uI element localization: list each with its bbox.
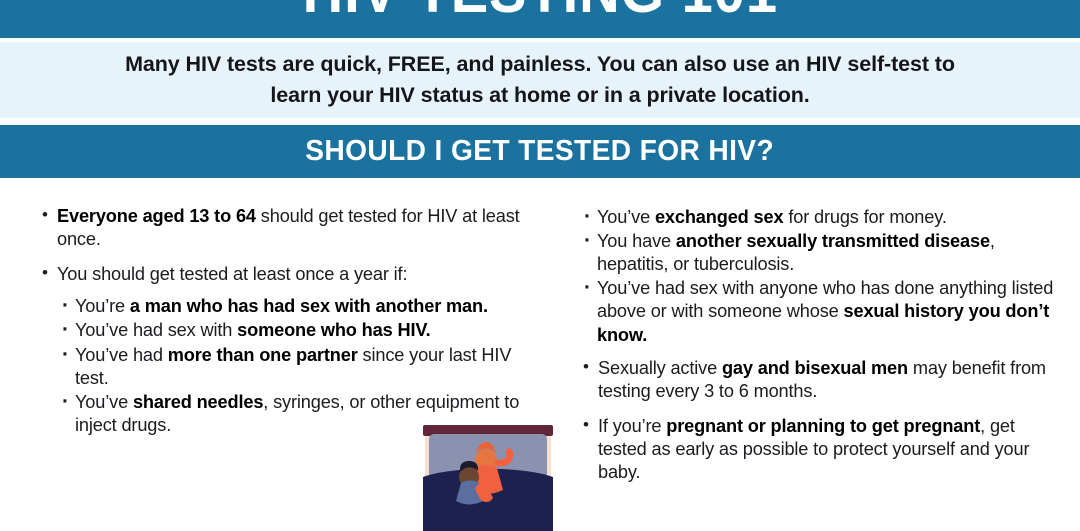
list-item: You should get tested at least once a ye… xyxy=(42,263,537,286)
section-heading-banner: SHOULD I GET TESTED FOR HIV? xyxy=(0,125,1080,178)
body-text: You’ve xyxy=(75,392,133,412)
list-item: Sexually active gay and bisexual men may… xyxy=(583,357,1063,403)
right-column-bullets: Sexually active gay and bisexual men may… xyxy=(583,357,1063,485)
couple-in-bed-illustration xyxy=(423,422,553,531)
left-column-list: Everyone aged 13 to 64 should get tested… xyxy=(42,205,537,438)
emphasis-text: someone who has HIV. xyxy=(237,320,430,340)
list-item: Everyone aged 13 to 64 should get tested… xyxy=(42,205,537,251)
emphasis-text: gay and bisexual men xyxy=(722,358,908,378)
body-text: You’re xyxy=(75,296,130,316)
sub-list: You’re a man who has had sex with anothe… xyxy=(42,295,537,437)
sub-list-item: You have another sexually transmitted di… xyxy=(583,230,1063,276)
body-text: If you’re xyxy=(598,416,666,436)
emphasis-text: pregnant or planning to get pregnant xyxy=(666,416,980,436)
sub-list-item: You’ve had sex with someone who has HIV. xyxy=(61,319,537,342)
body-text: You’ve had xyxy=(75,345,168,365)
right-column: You’ve exchanged sex for drugs for money… xyxy=(583,205,1063,496)
emphasis-text: a man who has had sex with another man. xyxy=(130,296,488,316)
subtitle-band: Many HIV tests are quick, FREE, and pain… xyxy=(0,42,1080,118)
list-item: If you’re pregnant or planning to get pr… xyxy=(583,415,1063,484)
body-text: Sexually active xyxy=(598,358,722,378)
sub-list-item: You’ve had sex with anyone who has done … xyxy=(583,277,1063,346)
right-column-subbullets: You’ve exchanged sex for drugs for money… xyxy=(583,206,1063,347)
emphasis-text: more than one partner xyxy=(168,345,358,365)
sub-list-item: You’ve had more than one partner since y… xyxy=(61,344,537,390)
emphasis-text: exchanged sex xyxy=(655,207,783,227)
emphasis-text: another sexually transmitted disease xyxy=(676,231,990,251)
body-text: You’ve had sex with xyxy=(75,320,237,340)
body-text: You have xyxy=(597,231,676,251)
infographic-page: HIV TESTING 101 Many HIV tests are quick… xyxy=(0,0,1080,531)
body-text: You’ve xyxy=(597,207,655,227)
body-text: You should get tested at least once a ye… xyxy=(57,264,407,284)
sub-list-item: You’re a man who has had sex with anothe… xyxy=(61,295,537,318)
subtitle-text: Many HIV tests are quick, FREE, and pain… xyxy=(110,49,970,110)
sub-list-item: You’ve exchanged sex for drugs for money… xyxy=(583,206,1063,229)
emphasis-text: shared needles xyxy=(133,392,263,412)
page-title: HIV TESTING 101 xyxy=(302,0,777,22)
title-banner: HIV TESTING 101 xyxy=(0,0,1080,38)
content-body: Everyone aged 13 to 64 should get tested… xyxy=(0,178,1080,531)
body-text: for drugs for money. xyxy=(783,207,946,227)
section-heading: SHOULD I GET TESTED FOR HIV? xyxy=(306,135,775,168)
emphasis-text: Everyone aged 13 to 64 xyxy=(57,206,256,226)
